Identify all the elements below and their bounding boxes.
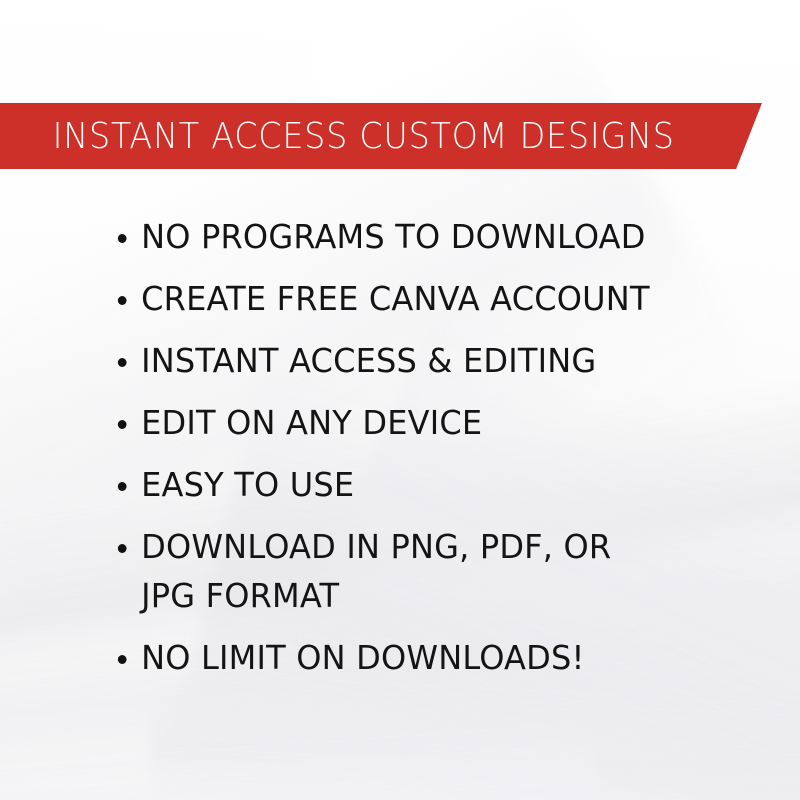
promo-graphic: INSTANT ACCESS CUSTOM DESIGNS NO PROGRAM… bbox=[0, 0, 800, 800]
list-item: INSTANT ACCESS & EDITING bbox=[112, 336, 733, 385]
feature-list: NO PROGRAMS TO DOWNLOAD CREATE FREE CANV… bbox=[112, 212, 752, 695]
list-item: NO LIMIT ON DOWNLOADS! bbox=[112, 633, 733, 682]
banner-title: INSTANT ACCESS CUSTOM DESIGNS bbox=[0, 116, 675, 157]
list-item: EASY TO USE bbox=[112, 460, 733, 509]
list-item: EDIT ON ANY DEVICE bbox=[112, 398, 733, 447]
list-item: NO PROGRAMS TO DOWNLOAD bbox=[112, 212, 733, 261]
list-item: CREATE FREE CANVA ACCOUNT bbox=[112, 274, 733, 323]
header-banner: INSTANT ACCESS CUSTOM DESIGNS bbox=[0, 103, 762, 169]
list-item: DOWNLOAD IN PNG, PDF, OR JPG FORMAT bbox=[112, 522, 675, 620]
background-swoosh-6 bbox=[0, 721, 604, 800]
